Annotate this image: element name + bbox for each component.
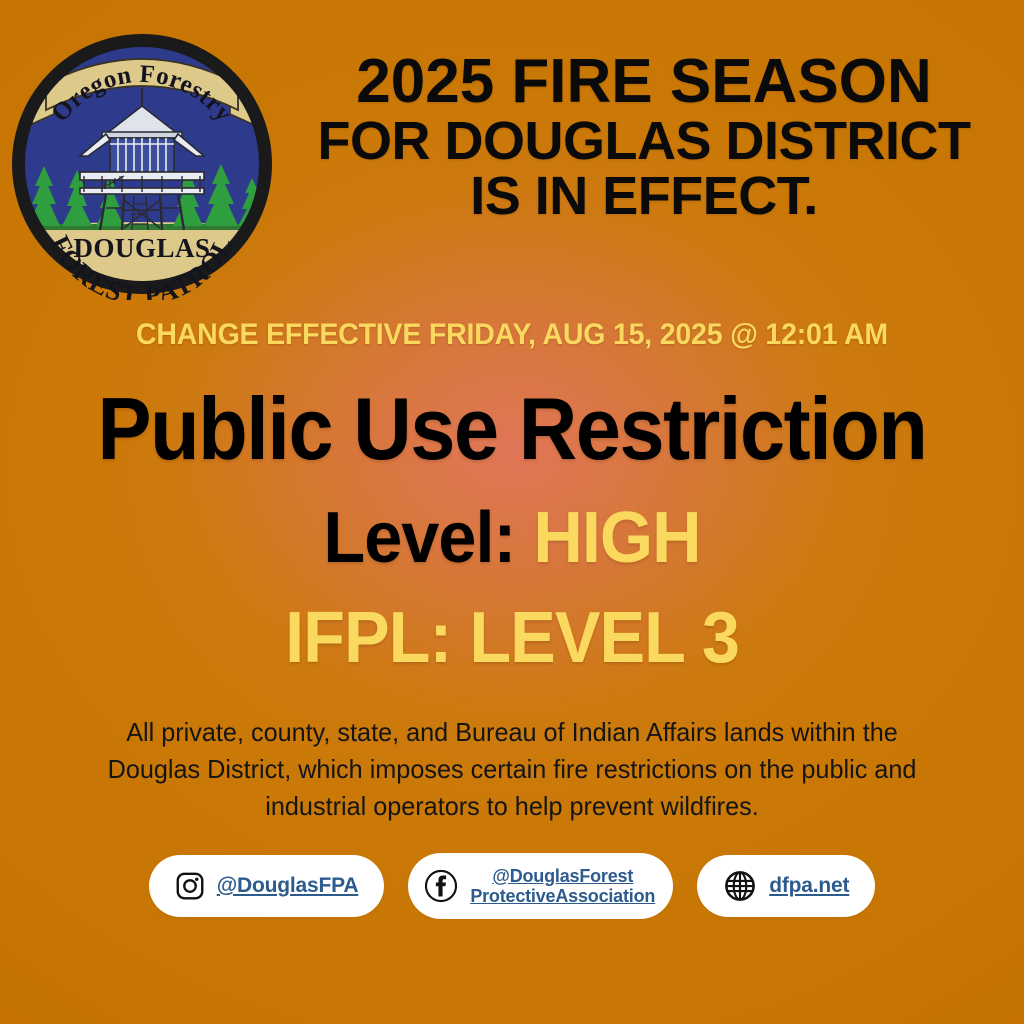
instagram-link-pill[interactable]: @DouglasFPA <box>149 855 385 917</box>
facebook-link-pill[interactable]: @DouglasForest ProtectiveAssociation <box>408 853 673 919</box>
instagram-icon <box>175 871 205 901</box>
douglas-forest-patrol-logo: Oregon Forestry DOUGLAS FOREST PATROL <box>6 28 278 300</box>
headline-block: 2025 FIRE SEASON FOR DOUGLAS DISTRICT IS… <box>276 52 1012 223</box>
website-url: dfpa.net <box>769 874 849 898</box>
poster-canvas: Oregon Forestry DOUGLAS FOREST PATROL 20… <box>0 0 1024 1024</box>
logo-bottom-line-1: DOUGLAS <box>73 233 210 263</box>
facebook-handle-line-1: @DouglasForest <box>470 866 655 886</box>
ifpl-level-line: IFPL: LEVEL 3 <box>26 597 999 679</box>
effective-date-notice: CHANGE EFFECTIVE FRIDAY, AUG 15, 2025 @ … <box>26 318 999 352</box>
facebook-icon <box>424 869 458 903</box>
instagram-handle: @DouglasFPA <box>217 874 359 898</box>
restriction-level-line: Level: HIGH <box>26 497 999 579</box>
headline-line-1: 2025 FIRE SEASON <box>276 52 1012 113</box>
description-paragraph: All private, county, state, and Bureau o… <box>99 714 925 825</box>
facebook-handle: @DouglasForest ProtectiveAssociation <box>470 866 655 906</box>
globe-icon <box>723 869 757 903</box>
website-link-pill[interactable]: dfpa.net <box>697 855 875 917</box>
social-links-row: @DouglasFPA @DouglasForest ProtectiveAss… <box>0 853 1024 919</box>
headline-line-2: FOR DOUGLAS DISTRICT <box>276 115 1012 168</box>
restriction-level-label: Level: <box>323 498 533 578</box>
badge-icon: Oregon Forestry DOUGLAS FOREST PATROL <box>6 28 278 300</box>
restriction-level-value: HIGH <box>533 498 700 578</box>
page-title: Public Use Restriction <box>41 378 983 480</box>
headline-line-3: IS IN EFFECT. <box>276 170 1012 223</box>
facebook-handle-line-2: ProtectiveAssociation <box>470 886 655 906</box>
